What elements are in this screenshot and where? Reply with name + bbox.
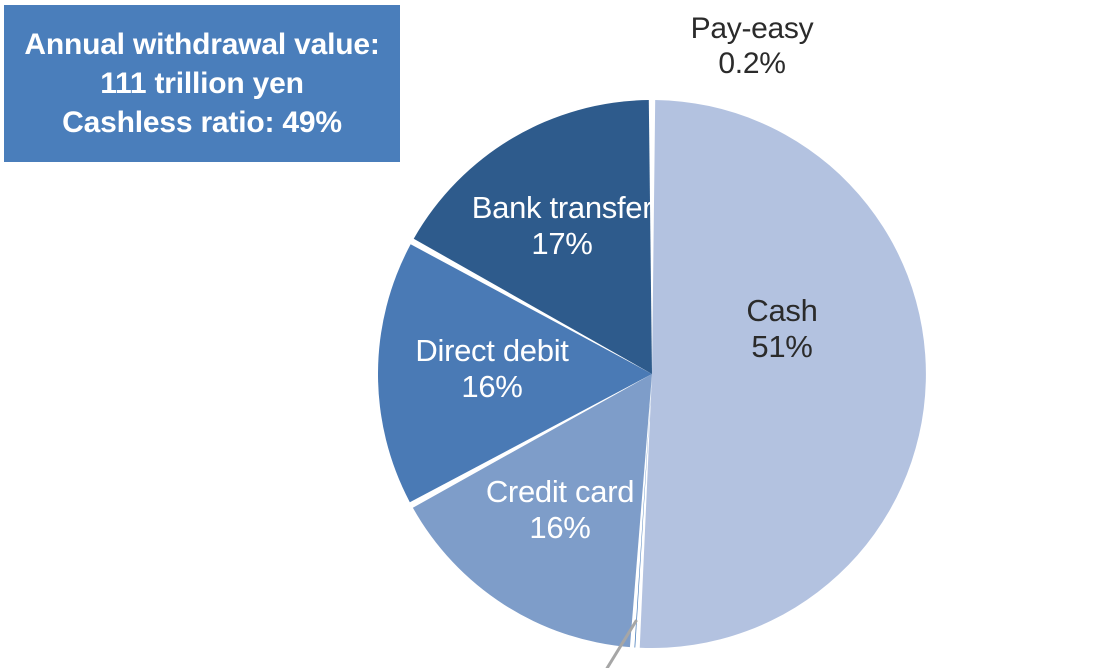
pie-slice-cash[interactable] — [640, 100, 926, 648]
chart-canvas: Annual withdrawal value: 111 trillion ye… — [0, 0, 1120, 668]
pie-slice-group — [378, 100, 926, 648]
pie-chart — [0, 0, 1120, 668]
pie-chart-svg — [0, 0, 1120, 668]
